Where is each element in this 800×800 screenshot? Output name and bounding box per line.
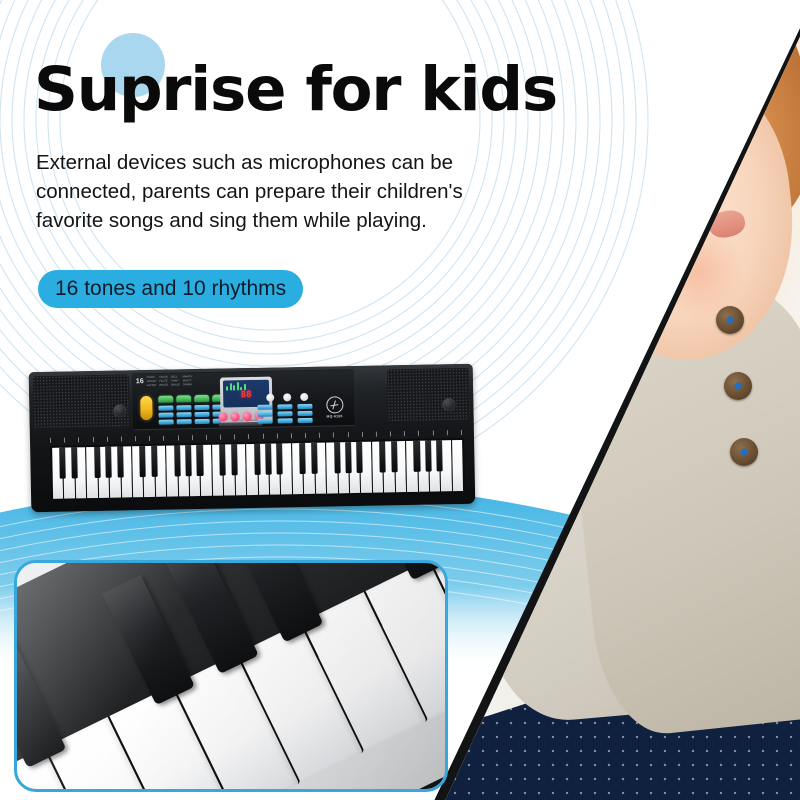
voice-button: [158, 406, 173, 411]
black-key: [254, 444, 261, 475]
panel-slider: [219, 422, 263, 427]
black-key: [102, 575, 195, 705]
rhythm-button: [277, 404, 292, 409]
voice-button: [159, 420, 174, 425]
black-key: [265, 444, 272, 475]
rhythm-button: [277, 411, 292, 416]
brand-logo: MQ-6185: [318, 394, 350, 421]
white-key: [452, 440, 463, 491]
black-key: [414, 441, 421, 472]
control-button: [231, 412, 240, 421]
brand-model-label: MQ-6185: [326, 414, 342, 418]
black-key: [60, 448, 67, 479]
control-panel: 16 PIANOORGANGUITAR VIOLINFLUTEBRASS BEL…: [131, 369, 356, 430]
black-key: [436, 440, 443, 471]
black-key: [139, 446, 146, 477]
page-title: Suprise for kids: [34, 57, 614, 123]
lcd-digits: 88: [241, 391, 252, 400]
black-key: [379, 441, 386, 472]
white-key: [52, 448, 64, 499]
black-key: [94, 447, 101, 478]
rhythm-button: [297, 404, 312, 409]
demo-button: [300, 393, 308, 401]
white-key: [166, 445, 178, 496]
black-key: [17, 638, 67, 768]
black-key: [391, 441, 398, 472]
rhythm-button: [258, 419, 273, 424]
white-key: [132, 446, 144, 497]
control-button: [243, 412, 252, 421]
black-key: [231, 444, 238, 475]
garment-button: [724, 372, 752, 400]
rhythm-button: [278, 418, 293, 423]
voice-button: [176, 405, 191, 410]
white-key: [372, 441, 384, 492]
function-button-group: [158, 394, 227, 402]
keys-closeup-inset: [14, 560, 448, 792]
voice-button: [195, 419, 210, 424]
black-key: [345, 442, 352, 473]
black-key: [197, 445, 204, 476]
white-key: [246, 444, 258, 495]
demo-button: [266, 394, 274, 402]
garment-button: [716, 306, 744, 334]
product-infographic: Suprise for kids External devices such a…: [0, 0, 800, 800]
black-key: [299, 443, 306, 474]
black-key: [311, 443, 318, 474]
demo-button-group: [266, 393, 308, 402]
black-key: [117, 446, 124, 477]
black-key: [151, 446, 158, 477]
black-key: [219, 445, 226, 476]
speaker-grille-right: [387, 368, 470, 422]
control-button: [219, 412, 228, 421]
description-text: External devices such as microphones can…: [36, 148, 516, 235]
power-button: [140, 396, 152, 420]
voice-button: [158, 413, 173, 418]
rhythm-button-group: [257, 404, 312, 424]
rhythm-button: [297, 411, 312, 416]
rhythm-button: [257, 405, 272, 410]
black-key: [425, 441, 432, 472]
keyboard-product-image: 16 PIANOORGANGUITAR VIOLINFLUTEBRASS BEL…: [29, 364, 476, 512]
function-button: [158, 396, 173, 403]
tone-count-label: 16: [136, 378, 144, 385]
rhythm-button: [298, 418, 313, 423]
black-key: [185, 445, 192, 476]
function-button: [194, 395, 209, 402]
white-key: [406, 441, 418, 492]
brand-emblem-icon: [326, 396, 343, 413]
black-key: [358, 563, 445, 580]
demo-button: [283, 393, 291, 401]
garment-button: [730, 438, 758, 466]
voice-button-group: [158, 404, 227, 424]
function-button: [176, 395, 191, 402]
speaker-grille-left: [33, 374, 130, 428]
white-key: [292, 443, 304, 494]
black-key: [334, 442, 341, 473]
voice-button: [177, 419, 192, 424]
black-key: [356, 442, 363, 473]
voice-button: [176, 412, 191, 417]
black-key: [277, 443, 284, 474]
voice-button: [194, 412, 209, 417]
feature-badge: 16 tones and 10 rhythms: [38, 270, 303, 308]
black-key: [105, 447, 112, 478]
black-key: [71, 447, 78, 478]
piano-keys: [50, 438, 465, 501]
white-key: [212, 445, 224, 496]
feature-badge-label: 16 tones and 10 rhythms: [55, 277, 286, 301]
rhythm-button: [257, 412, 272, 417]
black-key: [174, 445, 181, 476]
white-key: [86, 447, 98, 498]
voice-button: [194, 405, 209, 410]
white-key: [326, 442, 338, 493]
